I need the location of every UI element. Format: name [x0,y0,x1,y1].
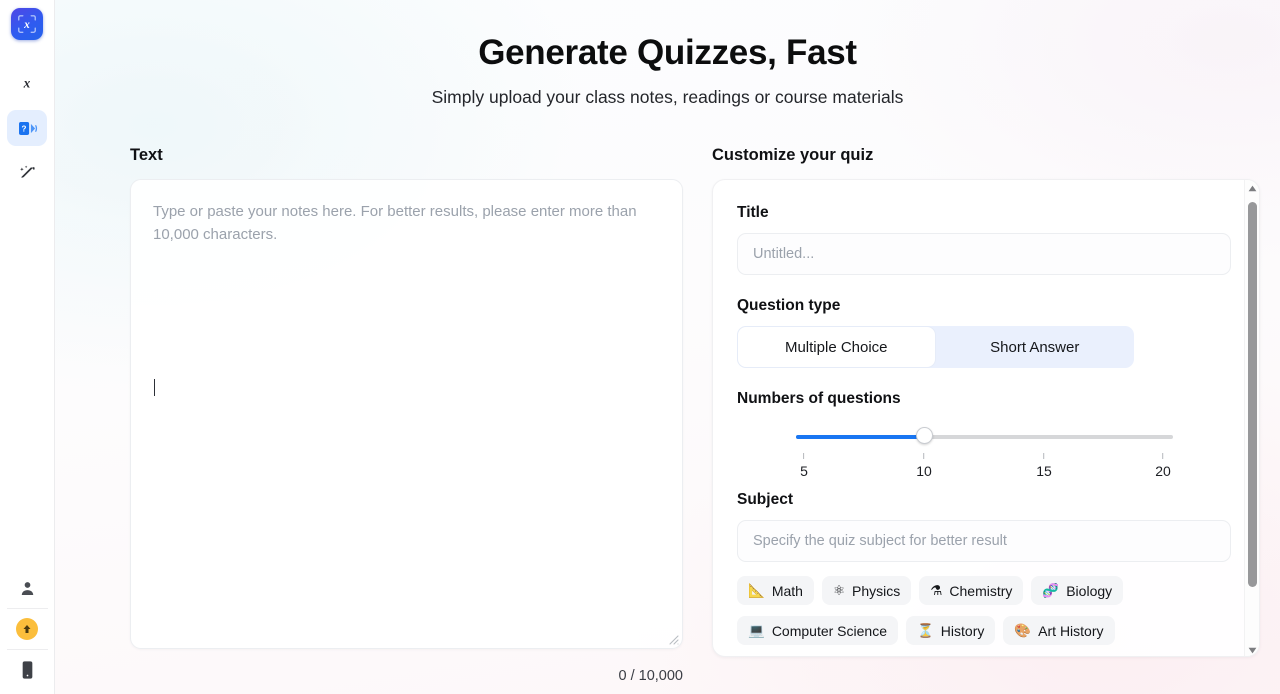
subject-chip-art-history[interactable]: 🎨 Art History [1003,616,1114,645]
x-bracket-logo-icon: x [16,13,38,35]
scrollbar-up-arrow[interactable] [1245,181,1260,195]
svg-text:?: ? [21,124,26,133]
text-panel-title: Text [130,146,683,165]
question-count-label: Numbers of questions [737,390,1235,408]
tick-mark [923,453,924,459]
tick-mark [1043,453,1044,459]
sidebar-item-mobile-app[interactable] [7,650,47,690]
question-type-option-short-answer[interactable]: Short Answer [936,326,1135,368]
subject-chip-chemistry[interactable]: ⚗ Chemistry [919,576,1023,605]
sidebar-item-ai-assistant[interactable] [7,155,47,191]
chevron-up-icon [1248,185,1257,192]
hourglass-icon: ⏳ [917,624,934,638]
scrollbar-thumb[interactable] [1248,202,1257,587]
scrollbar-down-arrow[interactable] [1245,643,1260,657]
character-counter: 0 / 10,000 [130,668,683,684]
customize-panel-title: Customize your quiz [712,146,1260,165]
x-math-icon: x [17,73,37,93]
chip-label: Art History [1038,623,1103,639]
svg-text:x: x [23,76,31,91]
text-input-panel: Text [130,146,683,649]
chip-label: History [941,623,985,639]
customize-card-scrollbar[interactable] [1244,180,1259,657]
text-cursor [154,379,155,396]
quiz-title-input[interactable] [737,233,1231,275]
chip-label: Math [772,583,803,599]
page-title: Generate Quizzes, Fast [55,33,1280,73]
chevron-down-icon [1248,647,1257,654]
slider-tick-labels: 5 10 15 20 [796,453,1173,481]
svg-text:x: x [23,19,30,31]
notes-textarea-container[interactable] [130,179,683,649]
subject-chip-biology[interactable]: 🧬 Biology [1031,576,1123,605]
subject-chips-row-2: 💻 Computer Science ⏳ History 🎨 Art Histo… [737,616,1235,645]
subject-label: Subject [737,491,1235,509]
slider-tick-15: 15 [1036,453,1052,479]
subject-chips-row-1: 📐 Math ⚛ Physics ⚗ Chemistry 🧬 [737,576,1235,605]
slider-tick-20: 20 [1155,453,1171,479]
magic-wand-sparkle-icon [17,163,38,184]
subject-chip-physics[interactable]: ⚛ Physics [822,576,911,605]
sidebar-item-math-solver[interactable]: x [7,65,47,101]
customize-card: Title Question type Multiple Choice Shor… [712,179,1260,657]
page-subtitle: Simply upload your class notes, readings… [55,87,1280,108]
laptop-icon: 💻 [748,624,765,638]
upgrade-arrow-up-icon [21,623,33,635]
slider-tick-5: 5 [800,453,808,479]
question-type-segmented-control: Multiple Choice Short Answer [737,326,1134,368]
artist-palette-icon: 🎨 [1014,624,1031,638]
subject-chip-history[interactable]: ⏳ History [906,616,995,645]
subject-input[interactable] [737,520,1231,562]
chip-label: Physics [852,583,900,599]
sidebar-item-account[interactable] [7,568,47,608]
customize-panel: Customize your quiz Title Question type … [712,146,1260,657]
person-icon [18,579,37,598]
title-field-label: Title [737,204,1235,222]
notes-textarea[interactable] [131,180,682,648]
alembic-icon: ⚗ [930,584,942,598]
quiz-generator-page: x x ? [0,0,1280,694]
chip-label: Computer Science [772,623,887,639]
tick-mark [803,453,804,459]
sidebar-item-upgrade[interactable] [7,609,47,649]
upgrade-badge [16,618,38,640]
triangular-ruler-icon: 📐 [748,584,765,598]
customize-card-body: Title Question type Multiple Choice Shor… [713,180,1259,657]
sidebar-item-quiz-generator[interactable]: ? [7,110,47,146]
chip-label: Biology [1066,583,1112,599]
app-logo[interactable]: x [11,8,43,40]
subject-chip-math[interactable]: 📐 Math [737,576,814,605]
question-type-option-multiple-choice[interactable]: Multiple Choice [737,326,936,368]
quiz-cards-icon: ? [17,119,38,138]
tick-mark [1162,453,1163,459]
subject-chip-computer-science[interactable]: 💻 Computer Science [737,616,898,645]
slider-tick-10: 10 [916,453,932,479]
dna-icon: 🧬 [1042,584,1059,598]
slider-thumb[interactable] [916,427,933,444]
left-sidebar: x x ? [0,0,55,694]
chip-label: Chemistry [949,583,1012,599]
atom-icon: ⚛ [833,584,845,598]
question-type-label: Question type [737,297,1235,315]
mobile-phone-icon [19,660,36,680]
question-count-slider[interactable] [796,432,1173,444]
slider-track-fill [796,435,924,439]
main-content: Generate Quizzes, Fast Simply upload you… [55,0,1280,694]
